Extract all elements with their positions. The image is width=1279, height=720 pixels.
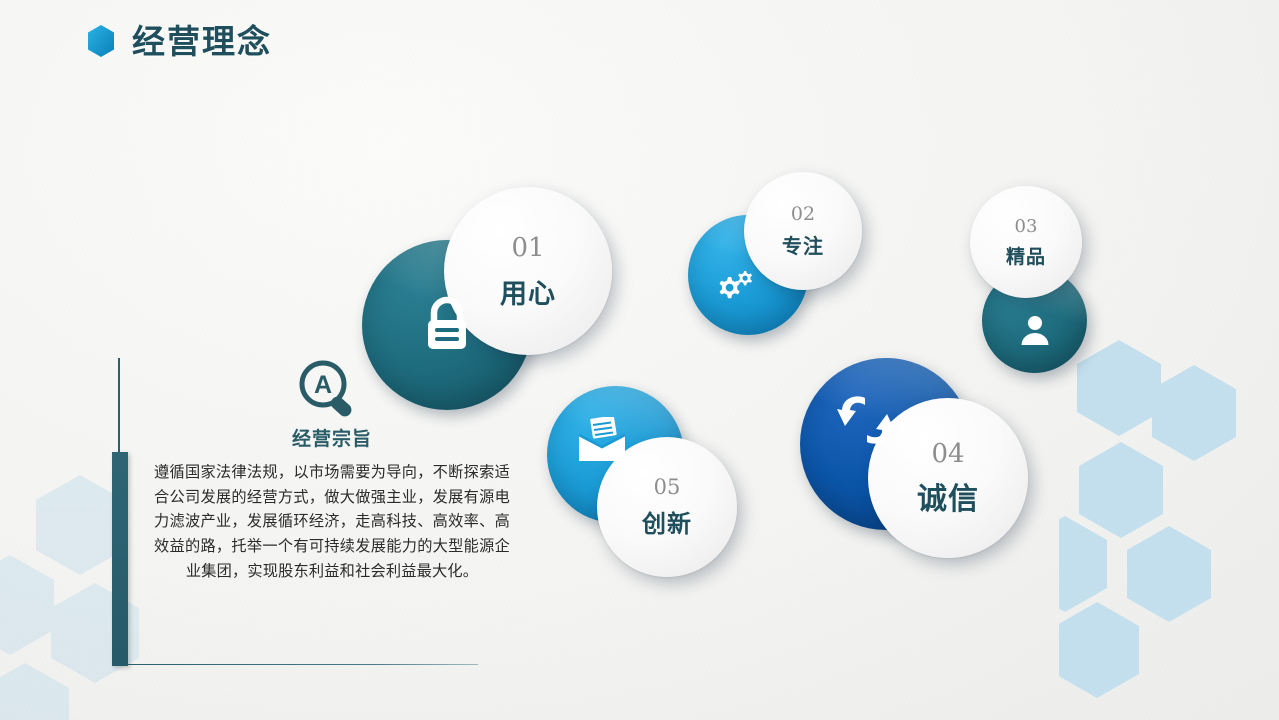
node-02-label-circle[interactable]: 02 专注 [744, 172, 862, 290]
node-02-number: 02 [791, 205, 815, 224]
hexagon-icon [86, 24, 116, 58]
slide-header: 经营理念 [86, 24, 272, 58]
slide-canvas: 经营理念 A 经营宗旨 遵循国家法律法规，以市场需要为导向，不断探索适合公司发展… [0, 0, 1279, 720]
node-05-text: 创新 [642, 513, 692, 537]
gears-icon [713, 269, 755, 305]
mail-open-icon [577, 417, 627, 463]
node-03-label-circle[interactable]: 03 精品 [970, 186, 1082, 298]
purpose-title: 经营宗旨 [154, 424, 510, 451]
node-03-number: 03 [1015, 218, 1038, 236]
node-04-number: 04 [931, 441, 964, 467]
node-01-number: 01 [511, 235, 544, 261]
node-01-text: 用心 [500, 281, 556, 308]
node-03-text: 精品 [1006, 248, 1046, 267]
node-05-number: 05 [654, 477, 681, 498]
node-04-text: 诚信 [917, 485, 979, 515]
exchange-arrows-icon [835, 392, 897, 448]
node-02-text: 专注 [782, 237, 824, 257]
user-icon [1018, 313, 1052, 347]
magnifier-a-icon: A [295, 358, 369, 420]
accent-line [118, 358, 120, 454]
svg-text:A: A [314, 371, 332, 399]
accent-bar [112, 452, 128, 666]
panel-underline [126, 664, 478, 665]
purpose-body-text: 遵循国家法律法规，以市场需要为导向，不断探索适合公司发展的经营方式，做大做强主业… [154, 460, 510, 583]
page-title: 经营理念 [132, 25, 272, 58]
lock-icon [421, 296, 473, 354]
hexagon-cluster-icon [1059, 330, 1279, 720]
